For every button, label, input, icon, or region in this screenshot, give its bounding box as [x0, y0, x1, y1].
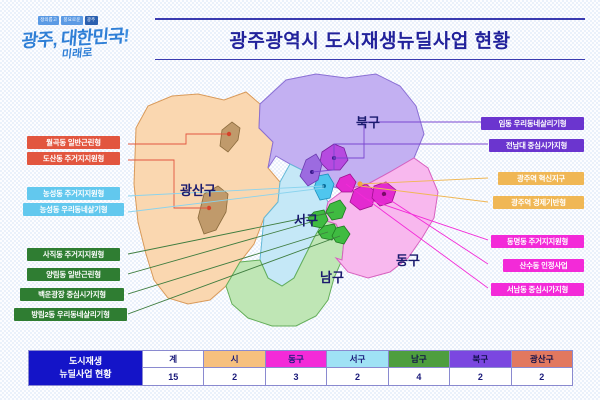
site-marker-sansu[interactable]: [382, 192, 386, 196]
summary-col-gwangsan-gu[interactable]: 광산구 2: [511, 351, 572, 385]
callout-sajik-dong[interactable]: 사직동 주거지지원형: [27, 248, 120, 261]
logo-tagline-part-1: 정의롭고: [38, 16, 59, 25]
callout-dongmyeong-dong[interactable]: 동명동 주거지지원형: [491, 235, 584, 248]
summary-col-nam-gu[interactable]: 남구 4: [388, 351, 449, 385]
gwangju-district-map: 광산구 북구 서구 남구 동구: [128, 72, 488, 337]
page-title-block: 광주광역시 도시재생뉴딜사업 현황: [155, 18, 585, 60]
callout-baegun-gwangjang[interactable]: 백운광장 중심시가지형: [20, 288, 124, 301]
callout-sansu-dong[interactable]: 산수동 인정사업: [503, 259, 584, 272]
callout-im-dong[interactable]: 임동 우리동네살리기형: [481, 117, 584, 130]
summary-col-si[interactable]: 시 2: [203, 351, 264, 385]
summary-table: 도시재생 뉴딜사업 현황 계 15 시 2 동구 3 서구 2 남구 4 북구 …: [28, 350, 573, 386]
title-rule-bottom: [155, 59, 585, 61]
gwangju-city-logo: 정의롭고 풍요로운 광주 광주, 대한민국! 미래로: [22, 14, 140, 62]
page-title: 광주광역시 도시재생뉴딜사업 현황: [155, 18, 585, 60]
summary-head-si: 시: [204, 351, 264, 368]
summary-table-header-line1: 도시재생: [69, 355, 102, 368]
summary-value-dong-gu: 3: [266, 368, 326, 385]
summary-col-total[interactable]: 계 15: [142, 351, 203, 385]
summary-col-dong-gu[interactable]: 동구 3: [265, 351, 326, 385]
summary-head-dong-gu: 동구: [266, 351, 326, 368]
summary-head-buk-gu: 북구: [450, 351, 510, 368]
summary-value-si: 2: [204, 368, 264, 385]
summary-head-seo-gu: 서구: [327, 351, 387, 368]
site-marker-wolgok[interactable]: [227, 132, 231, 136]
callout-nongseong-dong-2[interactable]: 농성동 우리동네살기형: [23, 203, 124, 216]
callout-wolgok-dong[interactable]: 월곡동 일반근린형: [27, 136, 120, 149]
poster-canvas: 정의롭고 풍요로운 광주 광주, 대한민국! 미래로 광주광역시 도시재생뉴딜사…: [0, 0, 600, 400]
callout-dosan-dong[interactable]: 도산동 주거지지원형: [27, 152, 120, 165]
summary-col-buk-gu[interactable]: 북구 2: [449, 351, 510, 385]
summary-value-seo-gu: 2: [327, 368, 387, 385]
map-svg: [128, 72, 488, 337]
callout-nongseong-dong-1[interactable]: 농성동 주거지지원형: [27, 187, 120, 200]
callout-seonam-dong[interactable]: 서남동 중심시가지형: [491, 283, 584, 296]
summary-table-header-line2: 뉴딜사업 현황: [59, 368, 111, 381]
summary-value-gwangsan-gu: 2: [512, 368, 572, 385]
summary-value-total: 15: [143, 368, 203, 385]
summary-table-header: 도시재생 뉴딜사업 현황: [29, 351, 142, 385]
callout-gwangju-station-2[interactable]: 광주역 경제기반형: [493, 196, 584, 209]
summary-head-nam-gu: 남구: [389, 351, 449, 368]
callout-yangnim-dong[interactable]: 양림동 일반근린형: [27, 268, 120, 281]
summary-value-buk-gu: 2: [450, 368, 510, 385]
summary-col-seo-gu[interactable]: 서구 2: [326, 351, 387, 385]
callout-jeonnam-univ[interactable]: 전남대 중심시가지형: [489, 139, 584, 152]
summary-value-nam-gu: 4: [389, 368, 449, 385]
logo-subtext: 미래로: [61, 44, 93, 62]
logo-wordmark-bang: !: [123, 26, 130, 46]
callout-gwangju-station-1[interactable]: 광주역 혁신지구: [498, 172, 584, 185]
callout-bangnim2-dong[interactable]: 방림2동 우리동네살리기형: [14, 308, 127, 321]
summary-head-gwangsan-gu: 광산구: [512, 351, 572, 368]
summary-head-total: 계: [143, 351, 203, 368]
